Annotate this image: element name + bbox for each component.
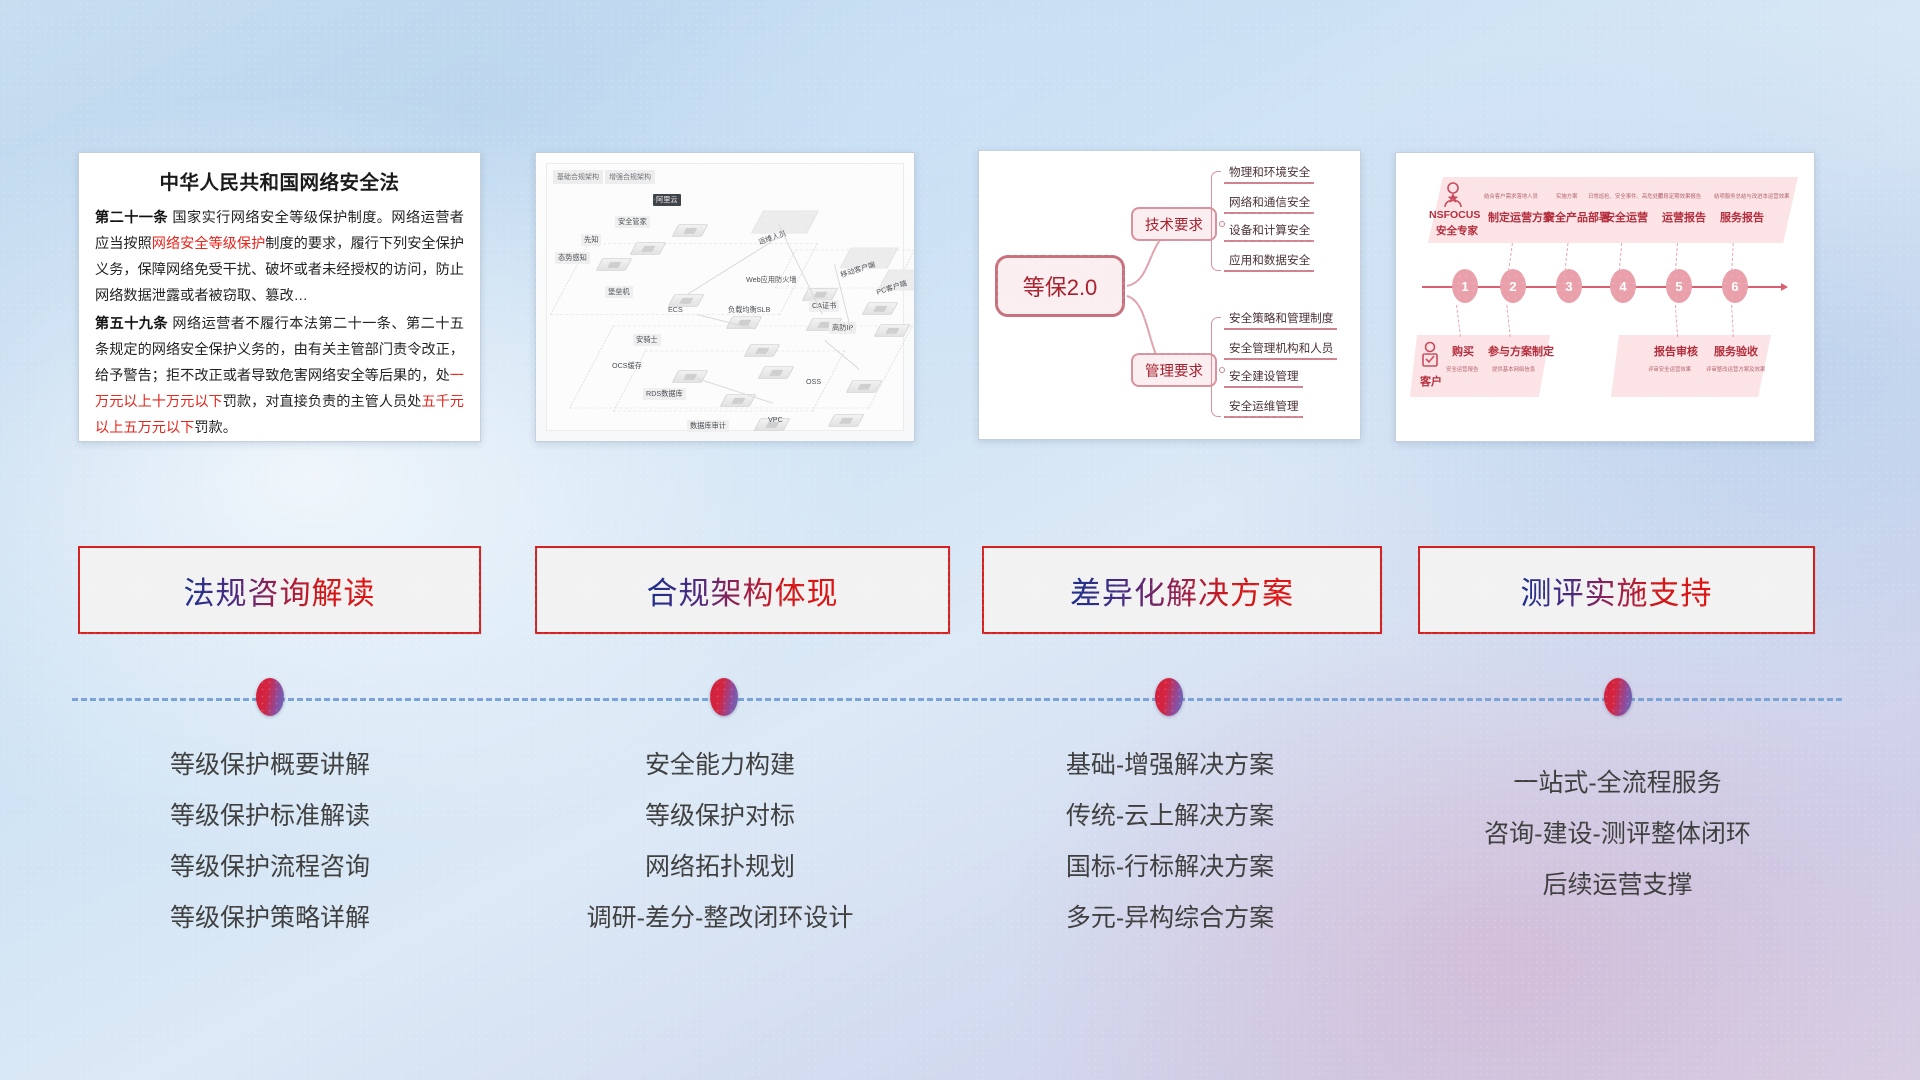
timeline-tick	[1731, 243, 1733, 271]
expert-person-icon	[1440, 181, 1466, 209]
nsfocus-customer-label: 客户	[1420, 373, 1442, 389]
list-item: 传统-云上解决方案	[960, 791, 1380, 842]
nsfocus-bottom-main: 服务验收	[1714, 343, 1758, 359]
mindmap-leaf: 设备和计算安全	[1224, 221, 1314, 242]
law-text-seg: 罚款。	[194, 420, 237, 436]
arch-label-oss: OSS	[803, 376, 824, 387]
timeline-node-3[interactable]	[1155, 678, 1183, 716]
law-text-seg: 罚款，对直接负责的主管人员处	[223, 394, 422, 410]
nsfocus-top-sub: 实施方案	[1556, 192, 1578, 200]
timeline-step: 3	[1556, 269, 1582, 303]
list-item: 咨询-建设-测评整体闭环	[1395, 809, 1840, 860]
nsfocus-bottom-main: 报告审核	[1654, 343, 1698, 359]
timeline-tick	[1675, 305, 1678, 337]
arch-label-ecs: ECS	[665, 304, 686, 315]
card-cloud-architecture: 基础合规架构 增强合规架构	[535, 152, 915, 442]
timeline-step: 4	[1610, 269, 1636, 303]
list-item: 等级保护标准解读	[60, 791, 480, 842]
law-text-highlight: 网络安全等级保护	[152, 236, 266, 252]
arch-label-ocs: OCS缓存	[609, 360, 645, 372]
timeline-tick	[1675, 243, 1678, 271]
timeline-node-1[interactable]	[256, 678, 284, 716]
arch-label-rds: RDS数据库	[643, 388, 686, 400]
mindmap-bracket-mgmt	[1211, 317, 1221, 417]
timeline-step: 2	[1500, 269, 1526, 303]
mindmap-root: 等保2.0	[995, 255, 1125, 317]
arch-label-anqishi: 安骑士	[633, 334, 661, 346]
card-cybersecurity-law: 中华人民共和国网络安全法 第二十一条 国家实行网络安全等级保护制度。网络运营者应…	[78, 152, 481, 442]
nsfocus-brand-sub: 安全专家	[1436, 223, 1478, 238]
list-item: 等级保护策略详解	[60, 893, 480, 944]
timeline-step: 6	[1722, 269, 1748, 303]
mindmap-branch-technical: 技术要求	[1131, 207, 1217, 241]
law-paragraph-59: 第五十九条 网络运营者不履行本法第二十一条、第二十五条规定的网络安全保护义务的，…	[95, 312, 464, 441]
timeline-tick	[1731, 305, 1734, 337]
architecture-diagram: 基础合规架构 增强合规架构	[536, 153, 914, 441]
nsfocus-bottom-main: 购买	[1452, 343, 1474, 359]
law-article-label-59: 第五十九条	[95, 316, 168, 332]
list-item: 一站式-全流程服务	[1395, 758, 1840, 809]
mindmap-leaf: 安全管理机构和人员	[1224, 339, 1337, 360]
arch-label-xianzhi: 先知	[581, 234, 601, 246]
card-mindmap-dengbao: 等保2.0 技术要求 管理要求 物理和环境安全 网络和通信安全 设备和计算安全 …	[978, 150, 1361, 440]
timeline-step: 1	[1452, 269, 1478, 303]
list-item: 安全能力构建	[510, 740, 930, 791]
nsfocus-top-main: 运营报告	[1662, 209, 1706, 225]
mindmap-leaf: 网络和通信安全	[1224, 193, 1314, 214]
timeline-tick	[1619, 243, 1622, 271]
mindmap-leaf: 安全策略和管理制度	[1224, 309, 1337, 330]
list-item: 等级保护对标	[510, 791, 930, 842]
arch-label-guanjia: 安全管家	[615, 216, 650, 228]
list-item: 调研-差分-整改闭环设计	[510, 893, 930, 944]
arch-label-aliyun: 阿里云	[653, 194, 681, 206]
timeline-tick	[1456, 305, 1461, 337]
title-box-regulation-consulting[interactable]: 法规咨询解读	[78, 546, 481, 634]
timeline-dashed-line	[72, 698, 1842, 701]
timeline-tick	[1508, 243, 1513, 271]
poster-canvas: 中华人民共和国网络安全法 第二十一条 国家实行网络安全等级保护制度。网络运营者应…	[0, 0, 1920, 1080]
arch-node-icon	[802, 288, 839, 301]
timeline-tick	[1506, 305, 1510, 337]
title-box-compliance-architecture[interactable]: 合规架构体现	[535, 546, 950, 634]
list-item: 基础-增强解决方案	[960, 740, 1380, 791]
arch-label-waf: Web应用防火墙	[743, 274, 800, 286]
arch-tab-basic: 基础合规架构	[553, 170, 603, 184]
nsfocus-brand: NSFOCUS	[1429, 209, 1480, 221]
arch-label-ca: CA证书	[809, 300, 839, 312]
arch-label-gaofang: 高防IP	[829, 322, 856, 334]
nsfocus-bottom-sub: 安全运营报告	[1446, 365, 1478, 373]
mindmap-branch-management: 管理要求	[1131, 353, 1217, 387]
nsfocus-bottom-sub: 评审安全运营效果	[1648, 365, 1691, 373]
title-box-evaluation-support[interactable]: 测评实施支持	[1418, 546, 1815, 634]
feature-list-regulation: 等级保护概要讲解 等级保护标准解读 等级保护流程咨询 等级保护策略详解	[60, 740, 480, 944]
list-item: 后续运营支撑	[1395, 860, 1840, 911]
law-article-label-21: 第二十一条	[95, 210, 168, 226]
nsfocus-top-main: 服务报告	[1720, 209, 1764, 225]
nsfocus-top-sub: 结合客户需求落地人员	[1484, 192, 1538, 200]
mindmap-canvas: 等保2.0 技术要求 管理要求 物理和环境安全 网络和通信安全 设备和计算安全 …	[979, 151, 1360, 439]
title-box-label: 测评实施支持	[1521, 568, 1713, 613]
feature-list-evaluation: 一站式-全流程服务 咨询-建设-测评整体闭环 后续运营支撑	[1395, 758, 1840, 911]
nsfocus-top-main: 安全产品部署	[1544, 209, 1610, 225]
list-item: 国标-行标解决方案	[960, 842, 1380, 893]
arch-node-icon	[672, 224, 709, 237]
arch-label-situation: 态势感知	[555, 252, 590, 264]
nsfocus-top-main: 安全运营	[1604, 209, 1648, 225]
mindmap-leaf: 物理和环境安全	[1224, 163, 1314, 184]
arch-node-icon	[862, 302, 899, 315]
nsfocus-bottom-main: 参与方案制定	[1488, 343, 1554, 359]
customer-person-icon	[1418, 341, 1442, 371]
mindmap-leaf: 安全运维管理	[1224, 397, 1303, 418]
mindmap-bracket-tech	[1211, 171, 1221, 271]
nsfocus-top-sub: 结项服务总结与改进本运营效果	[1714, 192, 1789, 200]
title-box-differentiated-solution[interactable]: 差异化解决方案	[982, 546, 1382, 634]
nsfocus-top-sub: 阶段定期效果报告	[1658, 192, 1701, 200]
list-item: 多元-异构综合方案	[960, 893, 1380, 944]
timeline-tick	[1565, 243, 1569, 271]
timeline-node-2[interactable]	[710, 678, 738, 716]
law-card-body: 中华人民共和国网络安全法 第二十一条 国家实行网络安全等级保护制度。网络运营者应…	[79, 153, 480, 442]
list-item: 等级保护概要讲解	[60, 740, 480, 791]
timeline-step: 5	[1666, 269, 1692, 303]
list-item: 等级保护流程咨询	[60, 842, 480, 893]
nsfocus-canvas: NSFOCUS 安全专家 客户 1 2 3 4 5 6	[1396, 153, 1814, 441]
feature-list-solution: 基础-增强解决方案 传统-云上解决方案 国标-行标解决方案 多元-异构综合方案	[960, 740, 1380, 944]
title-box-label: 法规咨询解读	[184, 568, 376, 613]
title-box-label: 差异化解决方案	[1070, 568, 1294, 613]
law-title: 中华人民共和国网络安全法	[95, 166, 464, 195]
arch-label-bastion: 堡垒机	[605, 286, 633, 298]
feature-list-architecture: 安全能力构建 等级保护对标 网络拓扑规划 调研-差分-整改闭环设计	[510, 740, 930, 944]
title-box-label: 合规架构体现	[647, 568, 839, 613]
mindmap-leaf: 安全建设管理	[1224, 367, 1303, 388]
mindmap-leaf: 应用和数据安全	[1224, 251, 1314, 272]
architecture-canvas: 基础合规架构 增强合规架构	[546, 163, 904, 431]
card-nsfocus-timeline: NSFOCUS 安全专家 客户 1 2 3 4 5 6	[1395, 152, 1815, 442]
arch-node-icon	[828, 414, 865, 427]
arch-label-slb: 负载均衡SLB	[725, 304, 773, 316]
nsfocus-top-sub: 日常巡检、安全事件、高危处置	[1588, 192, 1663, 200]
nsfocus-bottom-sub: 提供基本网络信息	[1492, 365, 1535, 373]
arch-label-db-audit: 数据库审计	[687, 420, 729, 432]
arch-tab-enhanced: 增强合规架构	[605, 170, 655, 184]
law-paragraph-21: 第二十一条 国家实行网络安全等级保护制度。网络运营者应当按照网络安全等级保护制度…	[95, 206, 464, 309]
nsfocus-bottom-sub: 评审整改运营方案及效果	[1706, 365, 1765, 373]
arch-label-vpc: VPC	[765, 414, 786, 425]
timeline-node-4[interactable]	[1604, 678, 1632, 716]
list-item: 网络拓扑规划	[510, 842, 930, 893]
